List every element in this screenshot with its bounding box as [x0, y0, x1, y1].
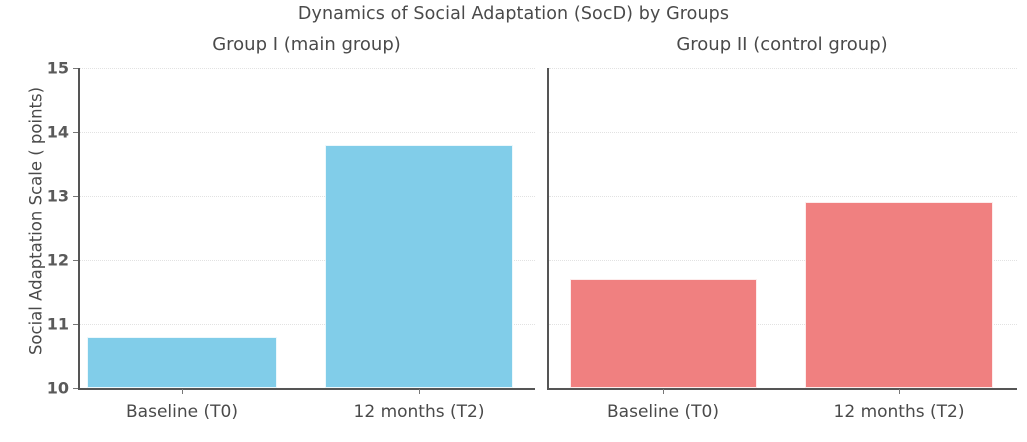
- y-tick-label-10: 10: [47, 379, 69, 398]
- y-tick-mark-14: [73, 132, 78, 133]
- gridline-14: [549, 132, 1017, 134]
- plot-area-group-2: Baseline (T0) 12 months (T2): [547, 68, 1017, 388]
- x-tick-mark-baseline: [182, 389, 183, 394]
- panel-title-group-1: Group I (main group): [78, 34, 535, 55]
- plot-area-group-1: 10 11 12 13 14 15 Baseline (T0) 12 month…: [78, 68, 535, 388]
- panel-title-group-2: Group II (control group): [547, 34, 1017, 55]
- gridline-14: [80, 132, 535, 134]
- y-tick-mark-12: [73, 260, 78, 261]
- bar-group-2-baseline[interactable]: [570, 279, 757, 388]
- y-axis-spine: [78, 68, 80, 388]
- y-axis-label: Social Adaptation Scale ( points): [27, 51, 46, 391]
- y-tick-label-13: 13: [47, 187, 69, 206]
- x-tick-mark-12-months: [899, 389, 900, 394]
- bar-group-2-12-months[interactable]: [805, 202, 993, 388]
- bar-group-1-baseline[interactable]: [87, 337, 277, 388]
- y-tick-label-12: 12: [47, 251, 69, 270]
- x-tick-label-12-months: 12 months (T2): [834, 402, 965, 422]
- y-tick-mark-15: [73, 68, 78, 69]
- x-axis-spine: [547, 388, 1017, 390]
- gridline-15: [549, 68, 1017, 70]
- y-tick-mark-13: [73, 196, 78, 197]
- y-tick-label-11: 11: [47, 315, 69, 334]
- x-tick-mark-baseline: [663, 389, 664, 394]
- y-axis-spine: [547, 68, 549, 388]
- x-tick-label-baseline: Baseline (T0): [607, 402, 719, 422]
- y-tick-mark-11: [73, 324, 78, 325]
- gridline-13: [549, 196, 1017, 198]
- chart-figure: Dynamics of Social Adaptation (SocD) by …: [0, 0, 1027, 442]
- bar-group-1-12-months[interactable]: [325, 145, 513, 388]
- y-tick-label-15: 15: [47, 59, 69, 78]
- gridline-15: [80, 68, 535, 70]
- chart-title: Dynamics of Social Adaptation (SocD) by …: [0, 4, 1027, 24]
- x-tick-label-baseline: Baseline (T0): [126, 402, 238, 422]
- y-tick-mark-10: [73, 388, 78, 389]
- y-tick-label-14: 14: [47, 123, 69, 142]
- x-axis-spine: [78, 388, 535, 390]
- x-tick-label-12-months: 12 months (T2): [354, 402, 485, 422]
- x-tick-mark-12-months: [419, 389, 420, 394]
